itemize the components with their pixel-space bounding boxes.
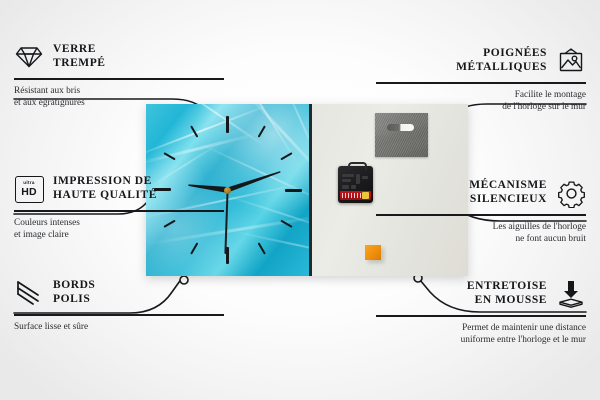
feature-header: MÉCANISME SILENCIEUX: [376, 176, 586, 210]
arrow-down-stack-icon: [556, 279, 586, 309]
feature-header: POIGNÉES MÉTALLIQUES: [376, 44, 586, 78]
feature-title: POIGNÉES MÉTALLIQUES: [456, 47, 547, 74]
gear-icon: [556, 178, 586, 208]
clock-center-cap: [224, 187, 231, 194]
feature-title: BORDS POLIS: [53, 279, 95, 306]
clock-mechanism-box: [338, 166, 373, 203]
feature-header: BORDS POLIS: [14, 276, 224, 310]
feature-divider: [14, 210, 224, 212]
hd-badge: ultra HD: [15, 176, 44, 203]
feature-description: Facilite le montage de l'horloge sur le …: [376, 89, 586, 114]
feature-title: VERRE TREMPÉ: [53, 43, 106, 70]
mechanism-detail: [351, 185, 356, 189]
hd-badge-top-text: ultra: [23, 181, 34, 186]
clock-tick-12: [227, 116, 229, 190]
feature-description: Surface lisse et sûre: [14, 321, 224, 334]
hd-badge-main-text: HD: [21, 187, 37, 198]
feature-bords-polis: BORDS POLIS Surface lisse et sûre: [14, 276, 224, 333]
feature-impression-haute-qualite: ultra HD IMPRESSION DE HAUTE QUALITÉ Cou…: [14, 172, 224, 242]
metal-hanger-plate: [375, 113, 428, 157]
feature-description: Résistant aux bris et aux égratignures: [14, 85, 224, 110]
foam-spacer: [365, 245, 381, 260]
feature-description: Permet de maintenir une distance uniform…: [376, 322, 586, 347]
mechanism-detail: [342, 185, 349, 189]
infographic-canvas: VERRE TREMPÉ Résistant aux bris et aux é…: [0, 0, 600, 400]
diagonal-lines-icon: [14, 278, 44, 308]
mechanism-detail: [342, 174, 354, 177]
feature-header: VERRE TREMPÉ: [14, 40, 224, 74]
feature-title: MÉCANISME SILENCIEUX: [469, 179, 547, 206]
feature-poignees-metalliques: POIGNÉES MÉTALLIQUES Facilite le montage…: [376, 44, 586, 114]
hanging-picture-icon: [556, 46, 586, 76]
feature-title: ENTRETOISE EN MOUSSE: [467, 280, 547, 307]
mechanism-detail: [356, 174, 360, 184]
feature-title: IMPRESSION DE HAUTE QUALITÉ: [53, 175, 157, 202]
mechanism-detail: [342, 179, 351, 182]
clock-tick-3: [228, 189, 302, 191]
feature-divider: [376, 82, 586, 84]
battery-label-text: [342, 193, 362, 198]
feature-verre-trempe: VERRE TREMPÉ Résistant aux bris et aux é…: [14, 40, 224, 110]
feature-header: ultra HD IMPRESSION DE HAUTE QUALITÉ: [14, 172, 224, 206]
feature-entretoise-en-mousse: ENTRETOISE EN MOUSSE Permet de maintenir…: [376, 277, 586, 347]
ultra-hd-icon: ultra HD: [14, 174, 44, 204]
feature-description: Couleurs intenses et image claire: [14, 217, 224, 242]
mechanism-hook: [348, 162, 367, 170]
feature-divider: [14, 78, 224, 80]
feature-divider: [14, 314, 224, 316]
feature-header: ENTRETOISE EN MOUSSE: [376, 277, 586, 311]
feature-divider: [376, 214, 586, 216]
feature-divider: [376, 315, 586, 317]
mechanism-detail: [362, 176, 368, 179]
feature-description: Les aiguilles de l'horloge ne font aucun…: [376, 221, 586, 246]
diamond-icon: [14, 42, 44, 72]
hanger-keyhole-slot: [387, 124, 414, 131]
battery-label: [340, 191, 371, 200]
feature-mecanisme-silencieux: MÉCANISME SILENCIEUX Les aiguilles de l'…: [376, 176, 586, 246]
battery-plus-marker: [362, 192, 369, 199]
